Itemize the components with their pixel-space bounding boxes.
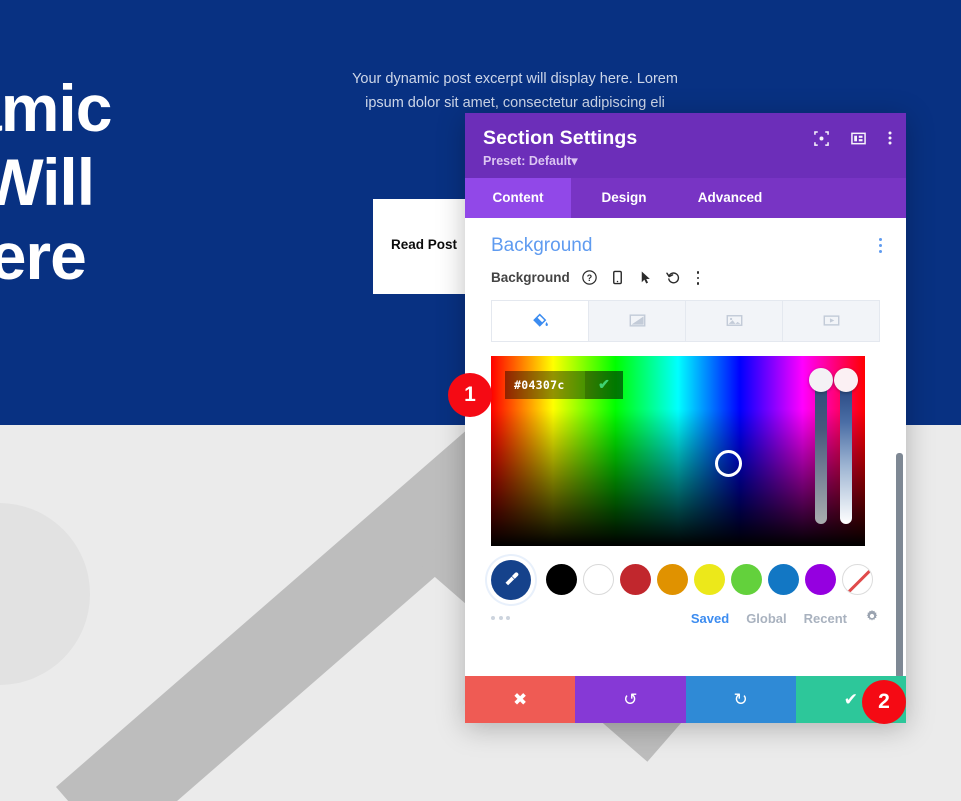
reset-icon[interactable] bbox=[665, 269, 682, 286]
page-title-line-1: ynamic bbox=[0, 72, 320, 146]
dot-icon bbox=[879, 244, 882, 247]
dot-icon bbox=[506, 616, 510, 620]
gradient-tab[interactable] bbox=[589, 301, 686, 341]
hue-slider-handle[interactable] bbox=[809, 368, 833, 392]
undo-button[interactable]: ↺ bbox=[575, 676, 685, 723]
swatch-transparent[interactable] bbox=[842, 564, 873, 595]
video-icon bbox=[822, 311, 841, 330]
modal-scrollbar[interactable] bbox=[896, 453, 903, 676]
dot-icon bbox=[499, 616, 503, 620]
layout-panel-icon[interactable] bbox=[851, 131, 866, 151]
color-picker-canvas[interactable]: #04307c ✔ bbox=[491, 356, 865, 546]
background-type-tabs bbox=[491, 300, 880, 342]
page-title-line-3: y Here bbox=[0, 220, 320, 294]
modal-footer: ✖ ↺ ↻ ✔ bbox=[465, 676, 906, 723]
video-tab[interactable] bbox=[783, 301, 879, 341]
swatch-blue[interactable] bbox=[768, 564, 799, 595]
dot-icon bbox=[697, 277, 700, 280]
step-badge-2: 2 bbox=[862, 680, 906, 724]
color-swatches bbox=[465, 546, 906, 600]
color-picker-wrap: #04307c ✔ bbox=[491, 356, 880, 546]
swatch-tab-global[interactable]: Global bbox=[746, 611, 786, 626]
swatch-tabs: Saved Global Recent bbox=[691, 608, 880, 629]
dot-icon bbox=[879, 238, 882, 241]
modal-tabs: Content Design Advanced bbox=[465, 178, 906, 218]
swatch-black[interactable] bbox=[546, 564, 577, 595]
swatch-purple[interactable] bbox=[805, 564, 836, 595]
swatch-yellow[interactable] bbox=[694, 564, 725, 595]
more-swatches-icon[interactable] bbox=[491, 616, 510, 620]
dot-icon bbox=[491, 616, 495, 620]
page-title: ynamic tle Will y Here bbox=[0, 72, 320, 294]
modal-header: Section Settings Preset: Default▾ bbox=[465, 113, 906, 178]
responsive-icon[interactable] bbox=[609, 269, 626, 286]
hex-input-wrap[interactable]: #04307c ✔ bbox=[505, 371, 623, 399]
hex-input[interactable]: #04307c bbox=[505, 378, 565, 392]
gradient-icon bbox=[628, 311, 647, 330]
hue-slider[interactable] bbox=[815, 378, 827, 524]
background-field-label: Background bbox=[491, 270, 570, 285]
swatch-tab-recent[interactable]: Recent bbox=[804, 611, 847, 626]
chevron-down-icon: ▾ bbox=[571, 154, 577, 168]
hex-confirm-button[interactable]: ✔ bbox=[585, 371, 623, 399]
swatch-red[interactable] bbox=[620, 564, 651, 595]
focus-mode-icon[interactable] bbox=[814, 131, 829, 151]
eyedropper-button[interactable] bbox=[491, 560, 531, 600]
tab-design[interactable]: Design bbox=[571, 178, 677, 218]
color-fill-tab[interactable] bbox=[492, 301, 589, 341]
swatch-tab-saved[interactable]: Saved bbox=[691, 611, 729, 626]
gear-icon[interactable] bbox=[864, 608, 880, 629]
read-post-button[interactable]: Read Post bbox=[391, 237, 457, 252]
alpha-slider-handle[interactable] bbox=[834, 368, 858, 392]
step-badge-1: 1 bbox=[448, 373, 492, 417]
help-icon[interactable]: ? bbox=[581, 269, 598, 286]
color-picker-handle[interactable] bbox=[715, 450, 742, 477]
section-heading-background: Background bbox=[491, 235, 592, 257]
dot-icon bbox=[879, 250, 882, 253]
field-more-icon[interactable] bbox=[693, 267, 704, 289]
page-title-line-2: tle Will bbox=[0, 146, 320, 220]
redo-button[interactable]: ↻ bbox=[686, 676, 796, 723]
paint-bucket-icon bbox=[531, 311, 550, 330]
eyedropper-icon bbox=[502, 570, 521, 589]
section-settings-modal: Section Settings Preset: Default▾ bbox=[465, 113, 906, 723]
screen: ynamic tle Will y Here Your dynamic post… bbox=[0, 0, 961, 801]
swatch-green[interactable] bbox=[731, 564, 762, 595]
background-field-row: Background ? bbox=[465, 259, 906, 297]
image-icon bbox=[725, 311, 744, 330]
background-section-header: Background bbox=[465, 218, 906, 259]
more-options-icon[interactable] bbox=[888, 130, 892, 151]
modal-header-actions bbox=[814, 130, 892, 151]
swatch-footer: Saved Global Recent bbox=[465, 600, 906, 629]
dot-icon bbox=[697, 271, 700, 274]
cancel-button[interactable]: ✖ bbox=[465, 676, 575, 723]
tab-content[interactable]: Content bbox=[465, 178, 571, 218]
swatch-orange[interactable] bbox=[657, 564, 688, 595]
swatch-white[interactable] bbox=[583, 564, 614, 595]
modal-body: Background Background ? bbox=[465, 218, 906, 676]
dot-icon bbox=[697, 282, 700, 285]
image-tab[interactable] bbox=[686, 301, 783, 341]
svg-text:?: ? bbox=[587, 273, 592, 283]
section-more-icon[interactable] bbox=[875, 234, 886, 257]
alpha-slider[interactable] bbox=[840, 378, 852, 524]
post-excerpt: Your dynamic post excerpt will display h… bbox=[350, 68, 680, 116]
preset-label: Preset: Default bbox=[483, 154, 571, 168]
tab-advanced[interactable]: Advanced bbox=[677, 178, 783, 218]
hover-icon[interactable] bbox=[637, 269, 654, 286]
preset-selector[interactable]: Preset: Default▾ bbox=[483, 153, 888, 168]
